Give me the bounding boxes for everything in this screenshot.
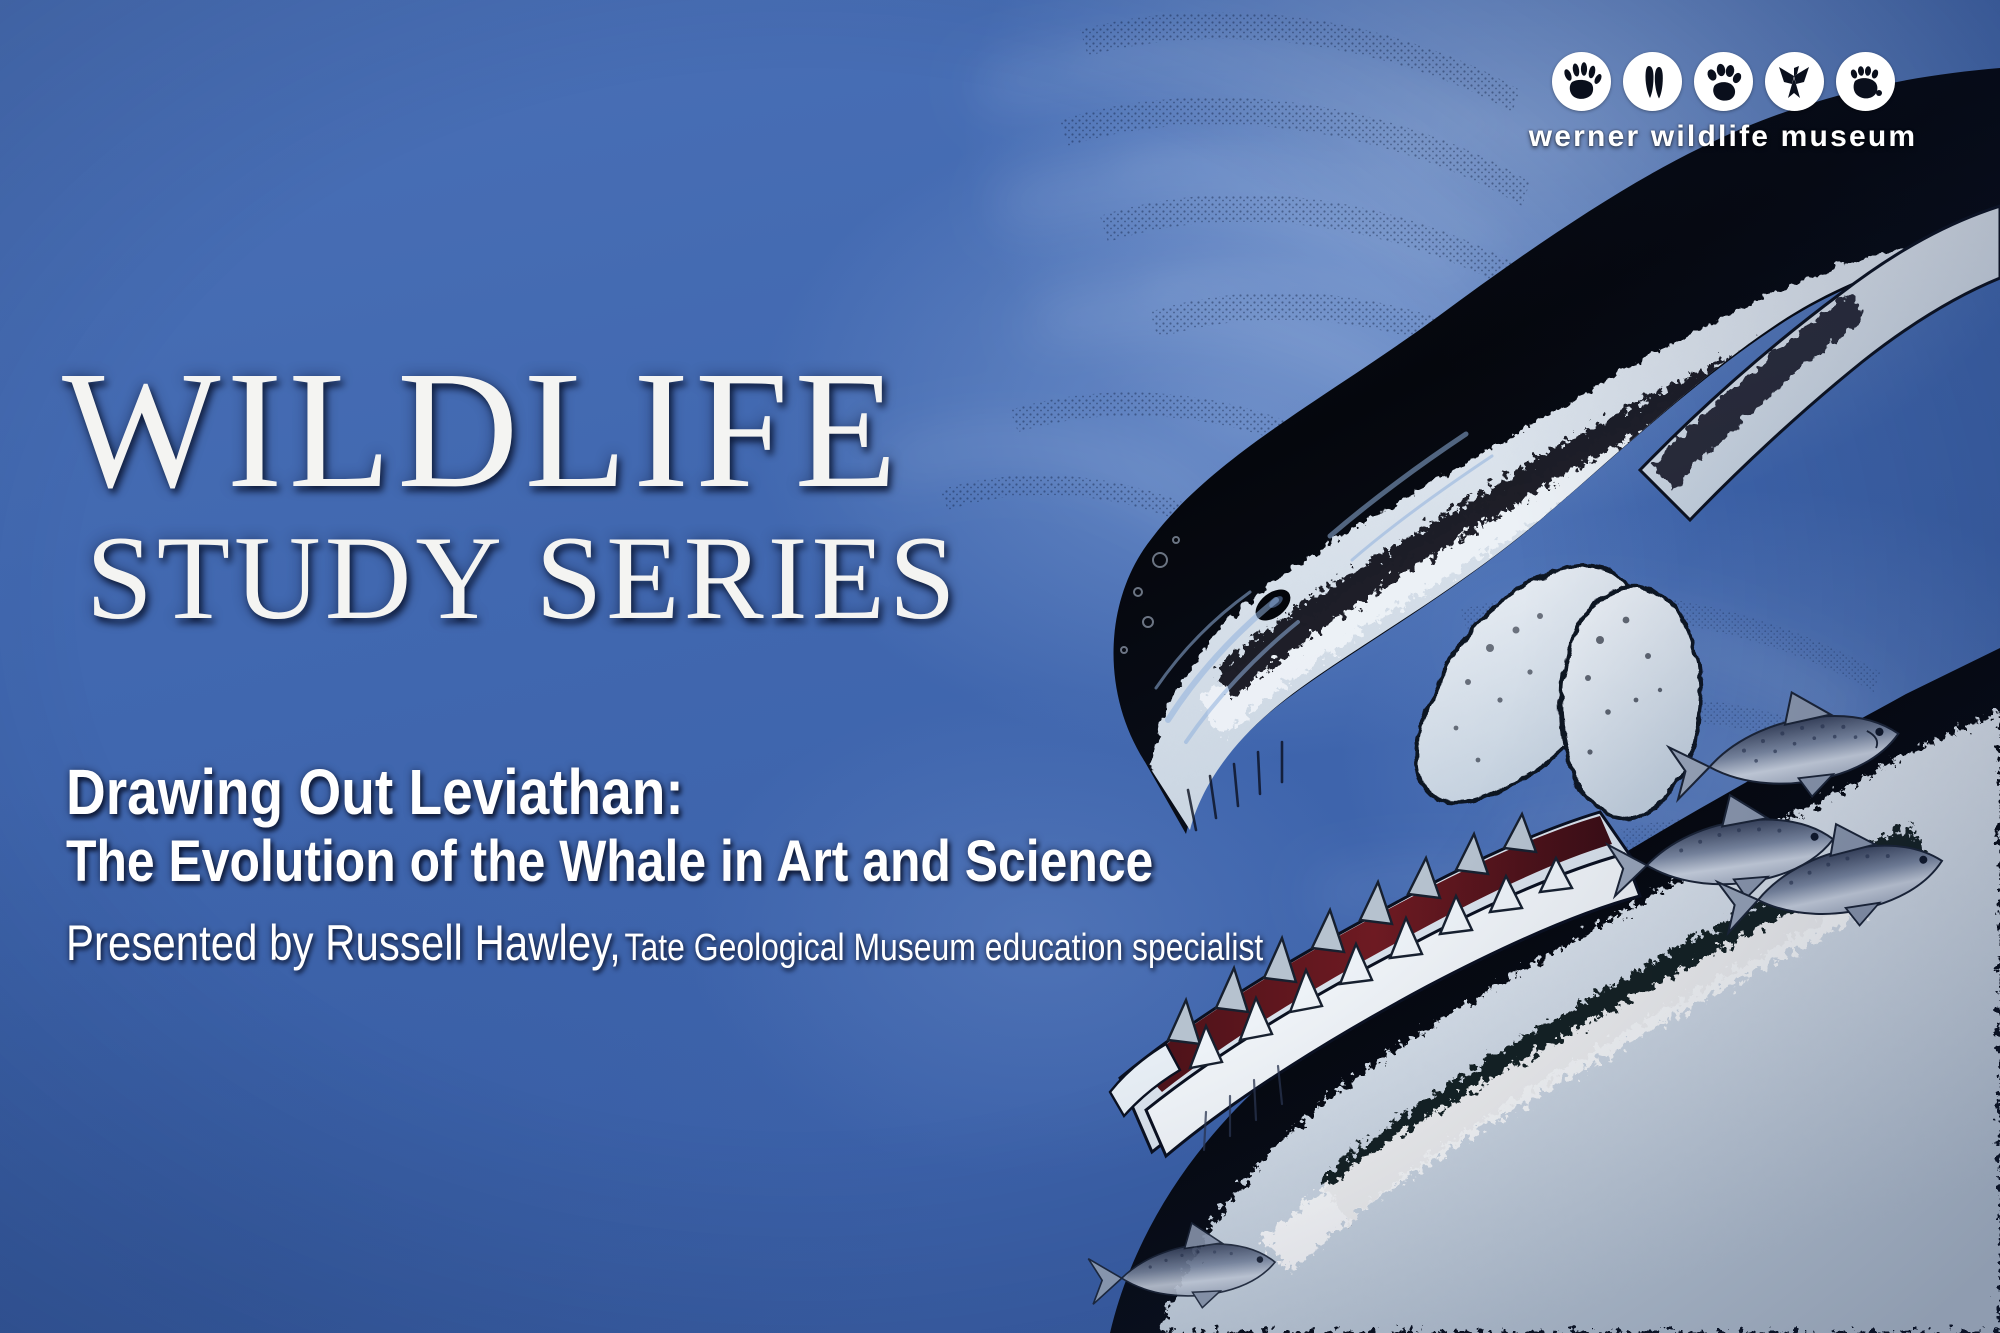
headline-line-1: WILDLIFE (62, 352, 960, 508)
headline-line-2: STUDY SERIES (86, 522, 960, 634)
canine-paw-track-icon (1694, 52, 1753, 111)
subtitle-block: Drawing Out Leviathan: The Evolution of … (66, 760, 1491, 972)
deer-hoof-track-icon (1623, 52, 1682, 111)
presenter-credential: Tate Geological Museum education special… (625, 927, 1264, 969)
presenter-name: Presented by Russell Hawley, (66, 915, 621, 971)
bear-paw-track-icon (1836, 52, 1895, 111)
logo-badge-row (1508, 52, 1938, 111)
headline-block: WILDLIFE STUDY SERIES (62, 352, 960, 634)
presenter-line: Presented by Russell Hawley, Tate Geolog… (66, 914, 1263, 972)
museum-logo[interactable]: werner wildlife museum (1508, 52, 1938, 154)
raccoon-track-icon (1552, 52, 1611, 111)
poster-canvas: werner wildlife museum WILDLIFE STUDY SE… (0, 0, 2000, 1333)
subtitle-line-1: Drawing Out Leviathan: (66, 760, 1292, 825)
whale-illustration (0, 0, 2000, 1333)
subtitle-line-2: The Evolution of the Whale in Art and Sc… (66, 831, 1292, 894)
bird-track-icon (1765, 52, 1824, 111)
museum-name: werner wildlife museum (1508, 120, 1938, 154)
